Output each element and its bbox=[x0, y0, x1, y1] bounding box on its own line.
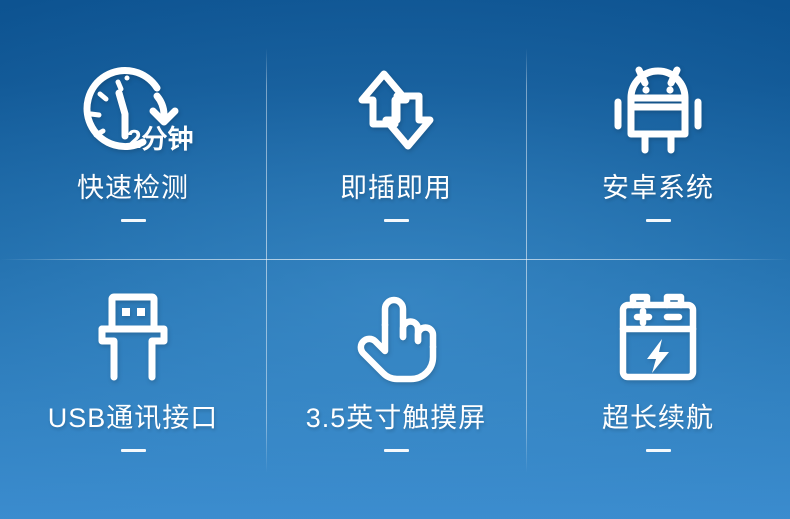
icon-badge-text: 2分钟 bbox=[127, 124, 193, 154]
feature-label: 安卓系统 bbox=[602, 175, 714, 202]
feature-grid: 2分钟 快速检测 即插即用 bbox=[0, 0, 790, 519]
label-underline-dash bbox=[646, 449, 671, 452]
touch-hand-icon bbox=[351, 289, 441, 385]
feature-cell-usb-interface: USB通讯接口 bbox=[0, 259, 266, 519]
label-underline-dash bbox=[646, 219, 671, 222]
feature-cell-plug-and-play: 即插即用 bbox=[266, 0, 526, 259]
up-down-arrows-icon bbox=[346, 62, 446, 158]
feature-label: 快速检测 bbox=[77, 175, 189, 202]
feature-banner: 2分钟 快速检测 即插即用 bbox=[0, 0, 790, 519]
feature-label: USB通讯接口 bbox=[48, 405, 219, 432]
stopwatch-clock-icon: 2分钟 bbox=[69, 62, 197, 158]
usb-connector-icon bbox=[90, 289, 176, 385]
feature-cell-fast-detection: 2分钟 快速检测 bbox=[0, 0, 266, 259]
feature-label: 超长续航 bbox=[602, 405, 714, 432]
feature-cell-android-system: 安卓系统 bbox=[526, 0, 790, 259]
label-underline-dash bbox=[384, 449, 409, 452]
label-underline-dash bbox=[384, 219, 409, 222]
label-underline-dash bbox=[121, 449, 146, 452]
feature-label: 3.5英寸触摸屏 bbox=[306, 405, 487, 432]
feature-cell-long-battery-life: 超长续航 bbox=[526, 259, 790, 519]
battery-bolt-icon bbox=[617, 289, 699, 385]
label-underline-dash bbox=[121, 219, 146, 222]
feature-cell-touchscreen: 3.5英寸触摸屏 bbox=[266, 259, 526, 519]
android-robot-icon bbox=[611, 62, 705, 158]
feature-label: 即插即用 bbox=[340, 175, 452, 202]
